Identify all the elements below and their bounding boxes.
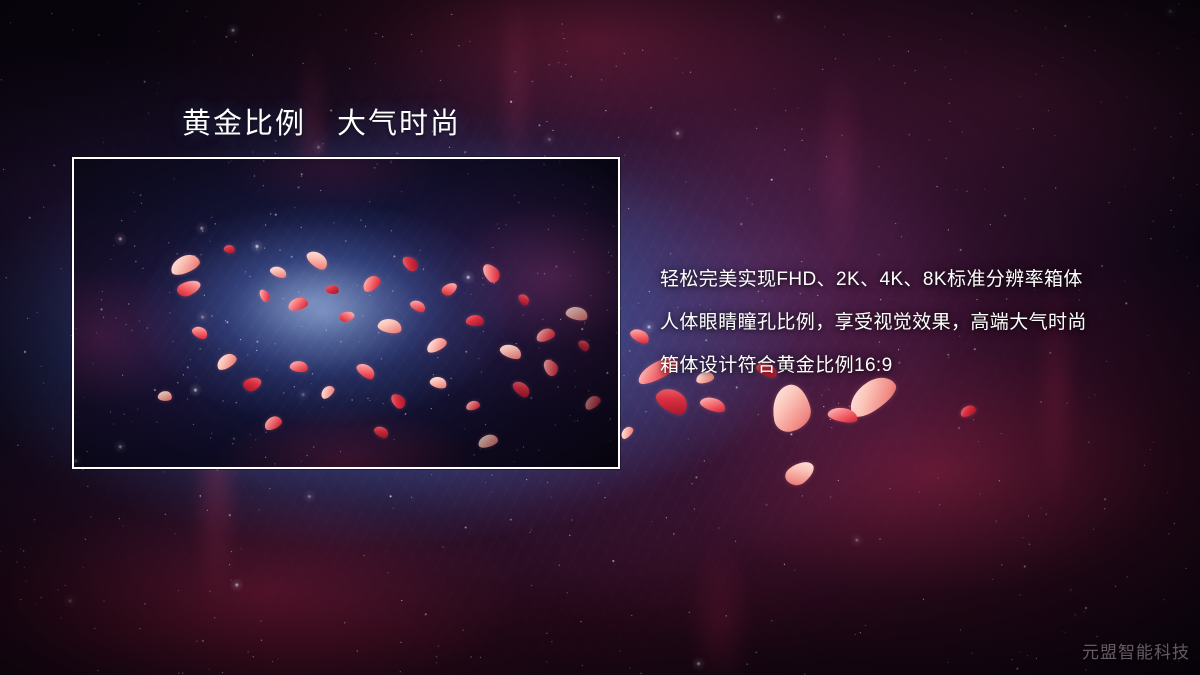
petal-shape	[827, 405, 859, 426]
slide-title: 黄金比例 大气时尚	[182, 100, 461, 142]
petal	[827, 405, 859, 426]
body-text-block: 轻松完美实现FHD、2K、4K、8K标准分辨率箱体 人体眼睛瞳孔比例，享受视觉效…	[660, 258, 1160, 387]
framed-nebula-image	[72, 157, 620, 469]
panel-inner	[74, 159, 618, 467]
petal-shape	[959, 404, 977, 418]
petal	[768, 382, 815, 435]
slide-canvas: 黄金比例 大气时尚 轻松完美实现FHD、2K、4K、8K标准分辨率箱体 人体眼睛…	[0, 0, 1200, 675]
watermark-label: 元盟智能科技	[1082, 638, 1190, 663]
panel-vignette-layer	[74, 159, 618, 467]
body-line-3: 箱体设计符合黄金比例16:9	[660, 344, 1160, 387]
petal	[619, 425, 636, 441]
petal	[699, 394, 728, 416]
body-line-2: 人体眼睛瞳孔比例，享受视觉效果，高端大气时尚	[660, 301, 1160, 344]
petal	[628, 325, 651, 346]
petal	[653, 382, 693, 420]
petal-shape	[619, 425, 636, 441]
body-line-1: 轻松完美实现FHD、2K、4K、8K标准分辨率箱体	[660, 258, 1160, 301]
petal-shape	[699, 394, 728, 416]
petal	[959, 404, 977, 418]
petal-shape	[768, 382, 815, 435]
petal-shape	[782, 456, 818, 490]
petal	[782, 456, 818, 490]
petal-shape	[628, 325, 651, 346]
petal-shape	[653, 382, 693, 420]
